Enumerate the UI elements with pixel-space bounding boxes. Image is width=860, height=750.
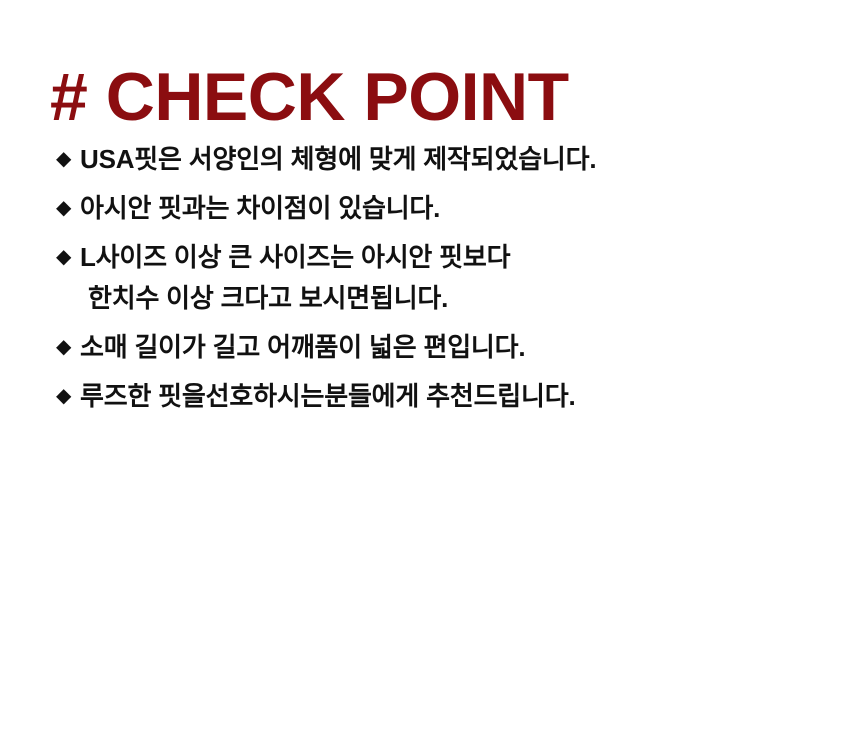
- diamond-bullet-icon: ◆: [56, 144, 80, 175]
- check-point-panel: # CHECK POINT ◆ USA핏은 서양인의 체형에 맞게 제작되었습니…: [0, 0, 860, 750]
- diamond-bullet-icon: ◆: [56, 193, 80, 224]
- list-item: ◆ 아시안 핏과는 차이점이 있습니다.: [56, 193, 816, 224]
- diamond-bullet-icon: ◆: [56, 332, 80, 363]
- diamond-bullet-icon: ◆: [56, 381, 80, 412]
- list-item-text: L사이즈 이상 큰 사이즈는 아시안 핏보다 한치수 이상 크다고 보시면됩니다…: [80, 242, 816, 314]
- list-item-text: USA핏은 서양인의 체형에 맞게 제작되었습니다.: [80, 144, 816, 175]
- list-item-line-1: 소매 길이가 길고 어깨품이 넓은 편입니다.: [80, 332, 525, 362]
- page-title: # CHECK POINT: [50, 63, 569, 131]
- list-item-line-1: L사이즈 이상 큰 사이즈는 아시안 핏보다: [80, 242, 510, 272]
- diamond-bullet-icon: ◆: [56, 242, 80, 273]
- list-item-text: 아시안 핏과는 차이점이 있습니다.: [80, 193, 816, 224]
- list-item: ◆ 루즈한 핏을선호하시는분들에게 추천드립니다.: [56, 381, 816, 412]
- list-item: ◆ L사이즈 이상 큰 사이즈는 아시안 핏보다 한치수 이상 크다고 보시면됩…: [56, 242, 816, 314]
- list-item-text: 루즈한 핏을선호하시는분들에게 추천드립니다.: [80, 381, 816, 412]
- list-item: ◆ USA핏은 서양인의 체형에 맞게 제작되었습니다.: [56, 144, 816, 175]
- list-item-line-1: 루즈한 핏을선호하시는분들에게 추천드립니다.: [80, 381, 575, 411]
- list-item-text: 소매 길이가 길고 어깨품이 넓은 편입니다.: [80, 332, 816, 363]
- list-item-line-1: USA핏은 서양인의 체형에 맞게 제작되었습니다.: [80, 144, 596, 174]
- list-item-line-1: 아시안 핏과는 차이점이 있습니다.: [80, 193, 440, 223]
- check-point-list: ◆ USA핏은 서양인의 체형에 맞게 제작되었습니다. ◆ 아시안 핏과는 차…: [56, 144, 816, 412]
- list-item: ◆ 소매 길이가 길고 어깨품이 넓은 편입니다.: [56, 332, 816, 363]
- list-item-line-2: 한치수 이상 크다고 보시면됩니다.: [80, 283, 816, 314]
